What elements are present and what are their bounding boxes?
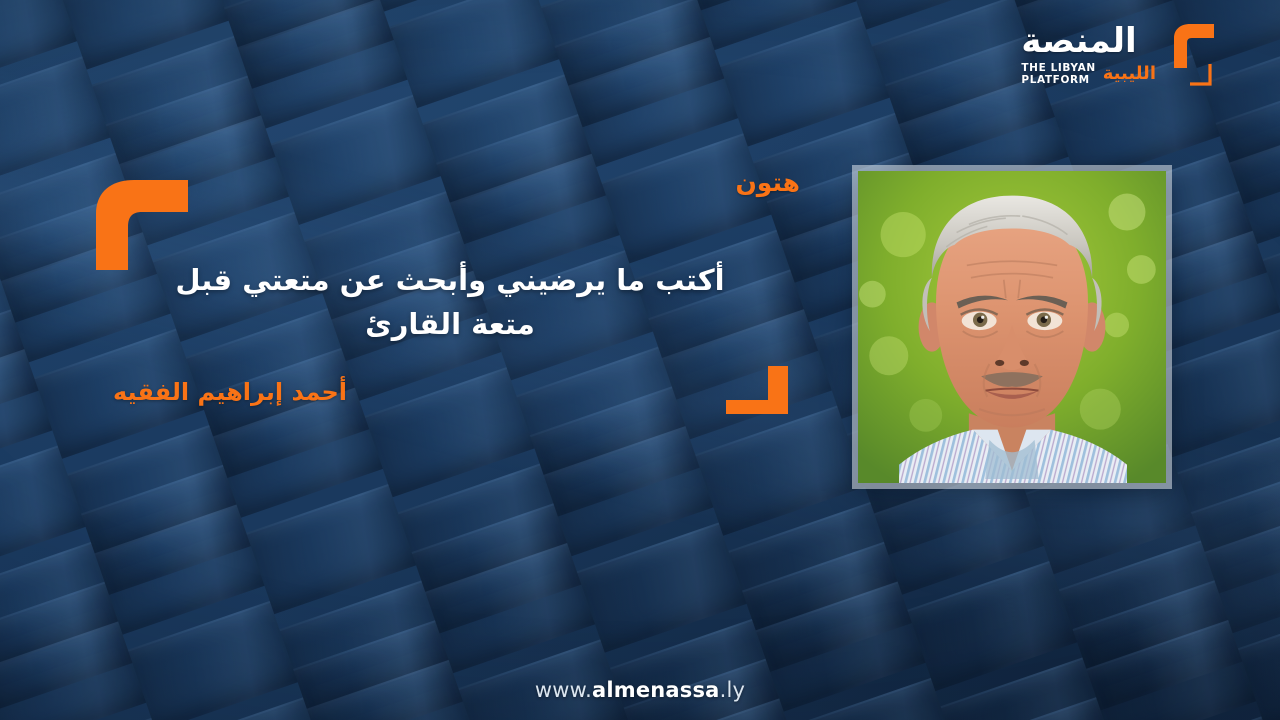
logo-english-line2: PLATFORM [1021,74,1095,86]
quote-open-icon [88,178,192,270]
author-name: أحمد إبراهيم الفقيه [0,378,460,406]
quote-text: أكتب ما يرضيني وأبحث عن متعتي قبل متعة ا… [150,258,750,346]
footer-url-tld: .ly [720,678,746,702]
footer-url-name: almenassa [592,678,720,702]
logo-english-tagline: THE LIBYAN PLATFORM [1021,62,1095,87]
logo-hook-small-icon [1188,62,1214,86]
logo-hook-mark [1166,22,1232,90]
logo-english-line1: THE LIBYAN [1021,62,1095,74]
footer-url-prefix: www. [535,678,592,702]
brand-logo[interactable]: المنصة الليبية THE LIBYAN PLATFORM [1021,20,1232,90]
quote-card: المنصة الليبية THE LIBYAN PLATFORM هتون … [0,0,1280,720]
section-label: هتون [735,168,800,197]
logo-arabic-sub: الليبية [1103,65,1156,83]
portrait-image [858,171,1166,483]
logo-wordmark: المنصة الليبية THE LIBYAN PLATFORM [1021,20,1156,87]
portrait-photo [858,171,1166,483]
logo-arabic-name: المنصة [1021,24,1136,58]
quote-close-icon [722,364,792,416]
portrait-container [858,171,1166,483]
footer-url[interactable]: www.almenassa.ly [0,678,1280,702]
